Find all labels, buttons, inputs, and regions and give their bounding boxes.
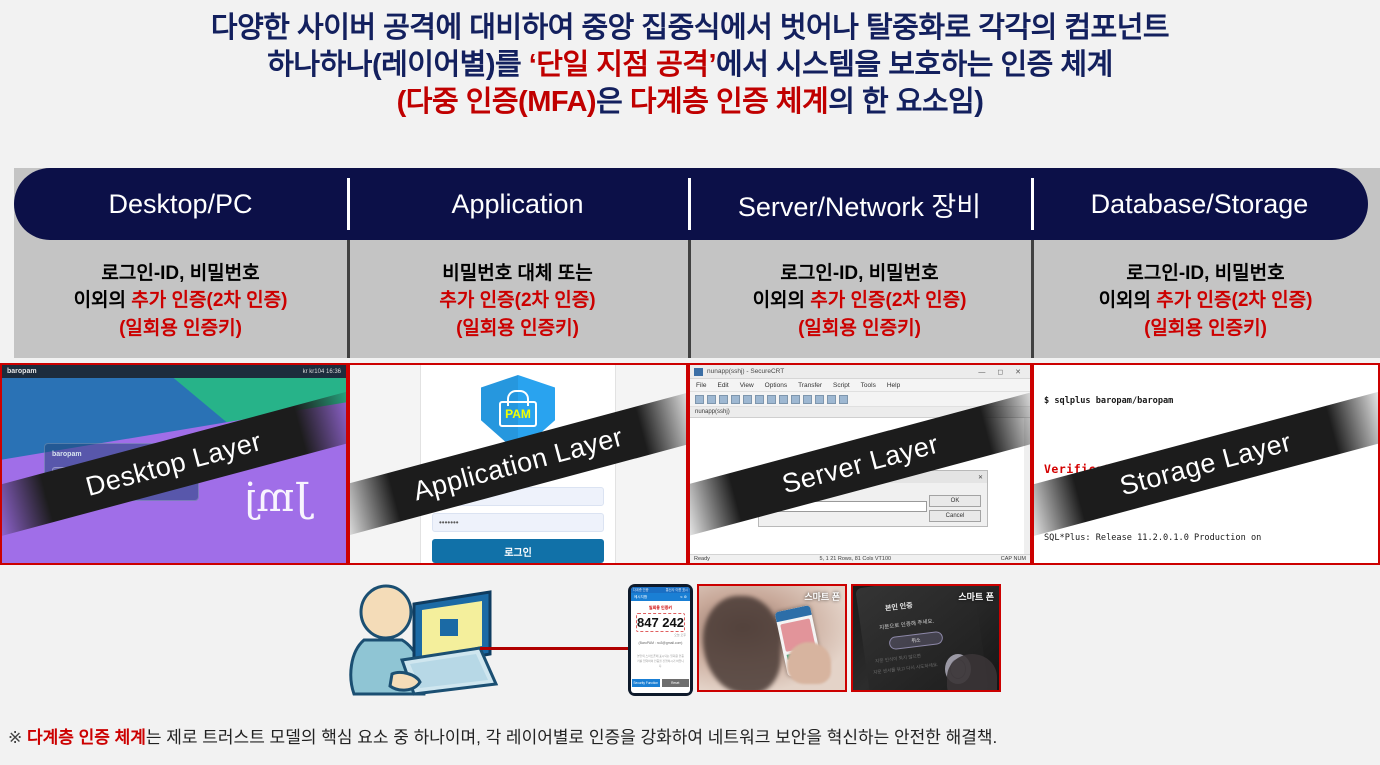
phone-status-right: 통신사 이름 표시 — [666, 587, 688, 593]
toolbar-icon-transfer[interactable] — [815, 395, 824, 404]
title-line-3-d: 다계층 인증 체계 — [630, 86, 828, 118]
layer-desc-server: 로그인-ID, 비밀번호 이외의 추가 인증(2차 인증) (일회용 인증키) — [688, 240, 1031, 358]
toolbar-icon-help[interactable] — [839, 395, 848, 404]
photo-hand-holding-phone: 스마트 폰 — [697, 584, 847, 692]
desc-red: 추가 인증(2차 인증) — [439, 290, 595, 311]
share-icon[interactable]: ⋖ ⚙ — [680, 595, 687, 599]
user-at-laptop-illustration — [340, 582, 500, 697]
mobile-authentication-images: 다계층 인증 통신사 이름 표시 메시지함 ⋖ ⚙ 일회용 인증키 847 24… — [628, 584, 1001, 696]
securecrt-menubar[interactable]: File Edit View Options Transfer Script T… — [690, 379, 1030, 392]
securecrt-titlebar[interactable]: nunapp(sshj) - SecureCRT — ◻ ✕ — [690, 365, 1030, 379]
desktop-logo: Jmj — [244, 475, 310, 521]
desc-line-2: 이외의 추가 인증(2차 인증) — [753, 287, 967, 315]
layer-desc-desktop: 로그인-ID, 비밀번호 이외의 추가 인증(2차 인증) (일회용 인증키) — [14, 240, 347, 358]
desc-line-1: 로그인-ID, 비밀번호 — [1126, 260, 1284, 288]
toolbar-icon-settings[interactable] — [827, 395, 836, 404]
desc-line-1: 로그인-ID, 비밀번호 — [780, 260, 938, 288]
status-ready: Ready — [694, 556, 710, 562]
title-line-3: (다중 인증(MFA)은 다계층 인증 체계의 한 요소임) — [0, 84, 1380, 121]
photo-hand-caption: 스마트 폰 — [804, 590, 840, 603]
title-line-3-c: 은 — [596, 86, 630, 118]
panel-application-layer[interactable]: PAM ...@co.kr ••••••• 로그인 Application La… — [348, 363, 688, 565]
desc-plain: 이외의 — [1099, 290, 1157, 311]
phone-screen: 다계층 인증 통신사 이름 표시 메시지함 ⋖ ⚙ 일회용 인증키 847 24… — [631, 587, 690, 693]
otp-phone-mockup[interactable]: 다계층 인증 통신사 이름 표시 메시지함 ⋖ ⚙ 일회용 인증키 847 24… — [628, 584, 693, 696]
footer-highlight: 다계층 인증 체계 — [27, 728, 146, 747]
panel-desktop-layer[interactable]: Jmj baropam kr kr104 16:36 baropam Verif… — [0, 363, 348, 565]
desc-line-3: (일회용 인증키) — [456, 315, 579, 343]
desc-line-2: 이외의 추가 인증(2차 인증) — [74, 287, 288, 315]
securecrt-statusbar: Ready 5, 1 21 Rows, 81 Cols VT100 CAP NU… — [690, 554, 1030, 563]
lock-icon: PAM — [499, 401, 537, 427]
desktop-topbar-label: baropam — [7, 368, 37, 375]
toolbar-icon-new-session[interactable] — [695, 395, 704, 404]
menu-item-file[interactable]: File — [696, 382, 706, 389]
sql-prompt-line: $ sqlplus baropam/baropam — [1044, 396, 1370, 408]
session-tab-label: nunapp(sshj) — [695, 409, 730, 415]
phone-buttons: Security Function Reset — [632, 679, 689, 687]
layer-desc-application: 비밀번호 대체 또는 추가 인증(2차 인증) (일회용 인증키) — [347, 240, 688, 358]
toolbar-icon-paste[interactable] — [767, 395, 776, 404]
footer-note: ※ 다계층 인증 체계는 제로 트러스트 모델의 핵심 요소 중 하나이며, 각… — [8, 723, 997, 748]
layer-table: Desktop/PC Application Server/Network 장비… — [14, 168, 1380, 358]
pam-lock-label: PAM — [505, 408, 531, 420]
menu-item-tools[interactable]: Tools — [861, 382, 876, 389]
toolbar-icon-find[interactable] — [779, 395, 788, 404]
photo-hand-blur — [787, 642, 831, 684]
title-line-2-a: 하나하나(레이어별)를 — [267, 49, 529, 81]
panel-server-layer[interactable]: nunapp(sshj) - SecureCRT — ◻ ✕ File Edit… — [688, 363, 1032, 565]
close-icon[interactable]: ✕ — [978, 474, 983, 481]
layer-header-bar: Desktop/PC Application Server/Network 장비… — [14, 168, 1368, 240]
photo-dark-caption: 스마트 폰 — [958, 590, 994, 603]
toolbar-icon-clone[interactable] — [719, 395, 728, 404]
title-line-2-c: 에서 시스템을 보호하는 인증 체계 — [716, 49, 1113, 81]
desc-line-3: (일회용 인증키) — [119, 315, 242, 343]
layer-screenshot-panels: Jmj baropam kr kr104 16:36 baropam Verif… — [0, 363, 1380, 565]
desc-line-1: 로그인-ID, 비밀번호 — [101, 260, 259, 288]
toolbar-icon-connect[interactable] — [707, 395, 716, 404]
otp-code: 847 242 — [636, 613, 685, 632]
title-line-2: 하나하나(레이어별)를 ‘단일 지점 공격’에서 시스템을 보호하는 인증 체계 — [0, 47, 1380, 84]
menu-item-help[interactable]: Help — [887, 382, 900, 389]
otp-sender-mail: (BaroPAM : no3@gmail.com) — [631, 641, 690, 645]
phone-app-bar: 메시지함 ⋖ ⚙ — [631, 593, 690, 601]
password-field[interactable]: ••••••• — [432, 513, 604, 532]
phone-status-left: 다계층 인증 — [633, 587, 649, 593]
layer-header-desktop[interactable]: Desktop/PC — [14, 168, 347, 240]
photo-person-blur — [703, 596, 781, 692]
title-line-2-b: ‘단일 지점 공격’ — [529, 49, 716, 81]
desc-plain: 이외의 — [753, 290, 811, 311]
status-dimensions: 5, 1 21 Rows, 81 Cols VT100 — [820, 556, 892, 562]
securecrt-toolbar[interactable] — [690, 392, 1030, 407]
title-line-3-b: 다중 인증(MFA) — [406, 86, 596, 118]
desc-red: 추가 인증(2차 인증) — [131, 290, 287, 311]
toolbar-icon-copy[interactable] — [755, 395, 764, 404]
toolbar-icon-disconnect[interactable] — [731, 395, 740, 404]
title-line-3-e: 의 한 요소임) — [828, 86, 983, 118]
desktop-top-bar[interactable]: baropam kr kr104 16:36 — [2, 365, 346, 378]
panel-storage-layer[interactable]: $ sqlplus baropam/baropam Verification c… — [1032, 363, 1380, 565]
desc-red: 추가 인증(2차 인증) — [1156, 290, 1312, 311]
desc-red: 추가 인증(2차 인증) — [810, 290, 966, 311]
desc-line-1: 비밀번호 대체 또는 — [442, 260, 592, 288]
photo-fingerprint-auth: 본인 인증 지문으로 인증해 주세요. 취소 지문 인식이 되지 않으면 지문 … — [851, 584, 1001, 692]
otp-timestamp: 오늘 오후 — [635, 633, 686, 637]
otp-instructions: 본인의 스마트폰에 표시되는 일회용 인증키를 입력하여 인증을 진행하시기 바… — [637, 654, 684, 668]
layer-header-database[interactable]: Database/Storage — [1031, 168, 1368, 240]
bottom-illustration-row: 다계층 인증 통신사 이름 표시 메시지함 ⋖ ⚙ 일회용 인증키 847 24… — [0, 570, 1380, 705]
menu-item-transfer[interactable]: Transfer — [798, 382, 822, 389]
desc-line-3: (일회용 인증키) — [798, 315, 921, 343]
desc-line-2: 이외의 추가 인증(2차 인증) — [1099, 287, 1313, 315]
login-button[interactable]: 로그인 — [432, 539, 604, 563]
title-line-3-a: ( — [397, 86, 406, 118]
desktop-topbar-status: kr kr104 16:36 — [303, 369, 341, 375]
menu-item-edit[interactable]: Edit — [717, 382, 728, 389]
ok-button[interactable]: OK — [929, 495, 981, 507]
release-line-1: SQL*Plus: Release 11.2.0.1.0 Production … — [1044, 533, 1370, 545]
footer-mark: ※ — [8, 728, 27, 747]
photo-finger-blur — [947, 654, 997, 692]
security-function-button[interactable]: Security Function — [632, 679, 660, 687]
title-line-1: 다양한 사이버 공격에 대비하여 중앙 집중식에서 벗어나 탈중화로 각각의 컴… — [0, 10, 1380, 47]
status-indicators: CAP NUM — [1001, 556, 1026, 562]
toolbar-icon-print[interactable] — [803, 395, 812, 404]
securecrt-title-text: nunapp(sshj) - SecureCRT — [707, 368, 784, 375]
layer-description-row: 로그인-ID, 비밀번호 이외의 추가 인증(2차 인증) (일회용 인증키) … — [14, 240, 1380, 358]
desc-plain: 이외의 — [74, 290, 132, 311]
desc-line-3: (일회용 인증키) — [1144, 315, 1267, 343]
securecrt-app-icon — [694, 368, 703, 376]
menu-item-script[interactable]: Script — [833, 382, 850, 389]
layer-header-server[interactable]: Server/Network 장비 — [688, 168, 1031, 240]
phone-app-title: 메시지함 — [634, 595, 647, 600]
toolbar-icon-log[interactable] — [791, 395, 800, 404]
window-controls[interactable]: — ◻ ✕ — [978, 368, 1026, 376]
menu-item-options[interactable]: Options — [765, 382, 787, 389]
page-title: 다양한 사이버 공격에 대비하여 중앙 집중식에서 벗어나 탈중화로 각각의 컴… — [0, 0, 1380, 121]
otp-label: 일회용 인증키 — [631, 605, 690, 611]
footer-rest: 는 제로 트러스트 모델의 핵심 요소 중 하나이며, 각 레이어별로 인증을 … — [146, 728, 997, 747]
cancel-button[interactable]: Cancel — [929, 510, 981, 522]
connector-line — [480, 647, 630, 650]
layer-header-application[interactable]: Application — [347, 168, 688, 240]
toolbar-icon-quick-connect[interactable] — [743, 395, 752, 404]
layer-desc-database: 로그인-ID, 비밀번호 이외의 추가 인증(2차 인증) (일회용 인증키) — [1031, 240, 1380, 358]
menu-item-view[interactable]: View — [740, 382, 754, 389]
desc-line-2: 추가 인증(2차 인증) — [439, 287, 595, 315]
reset-button[interactable]: Reset — [662, 679, 690, 687]
